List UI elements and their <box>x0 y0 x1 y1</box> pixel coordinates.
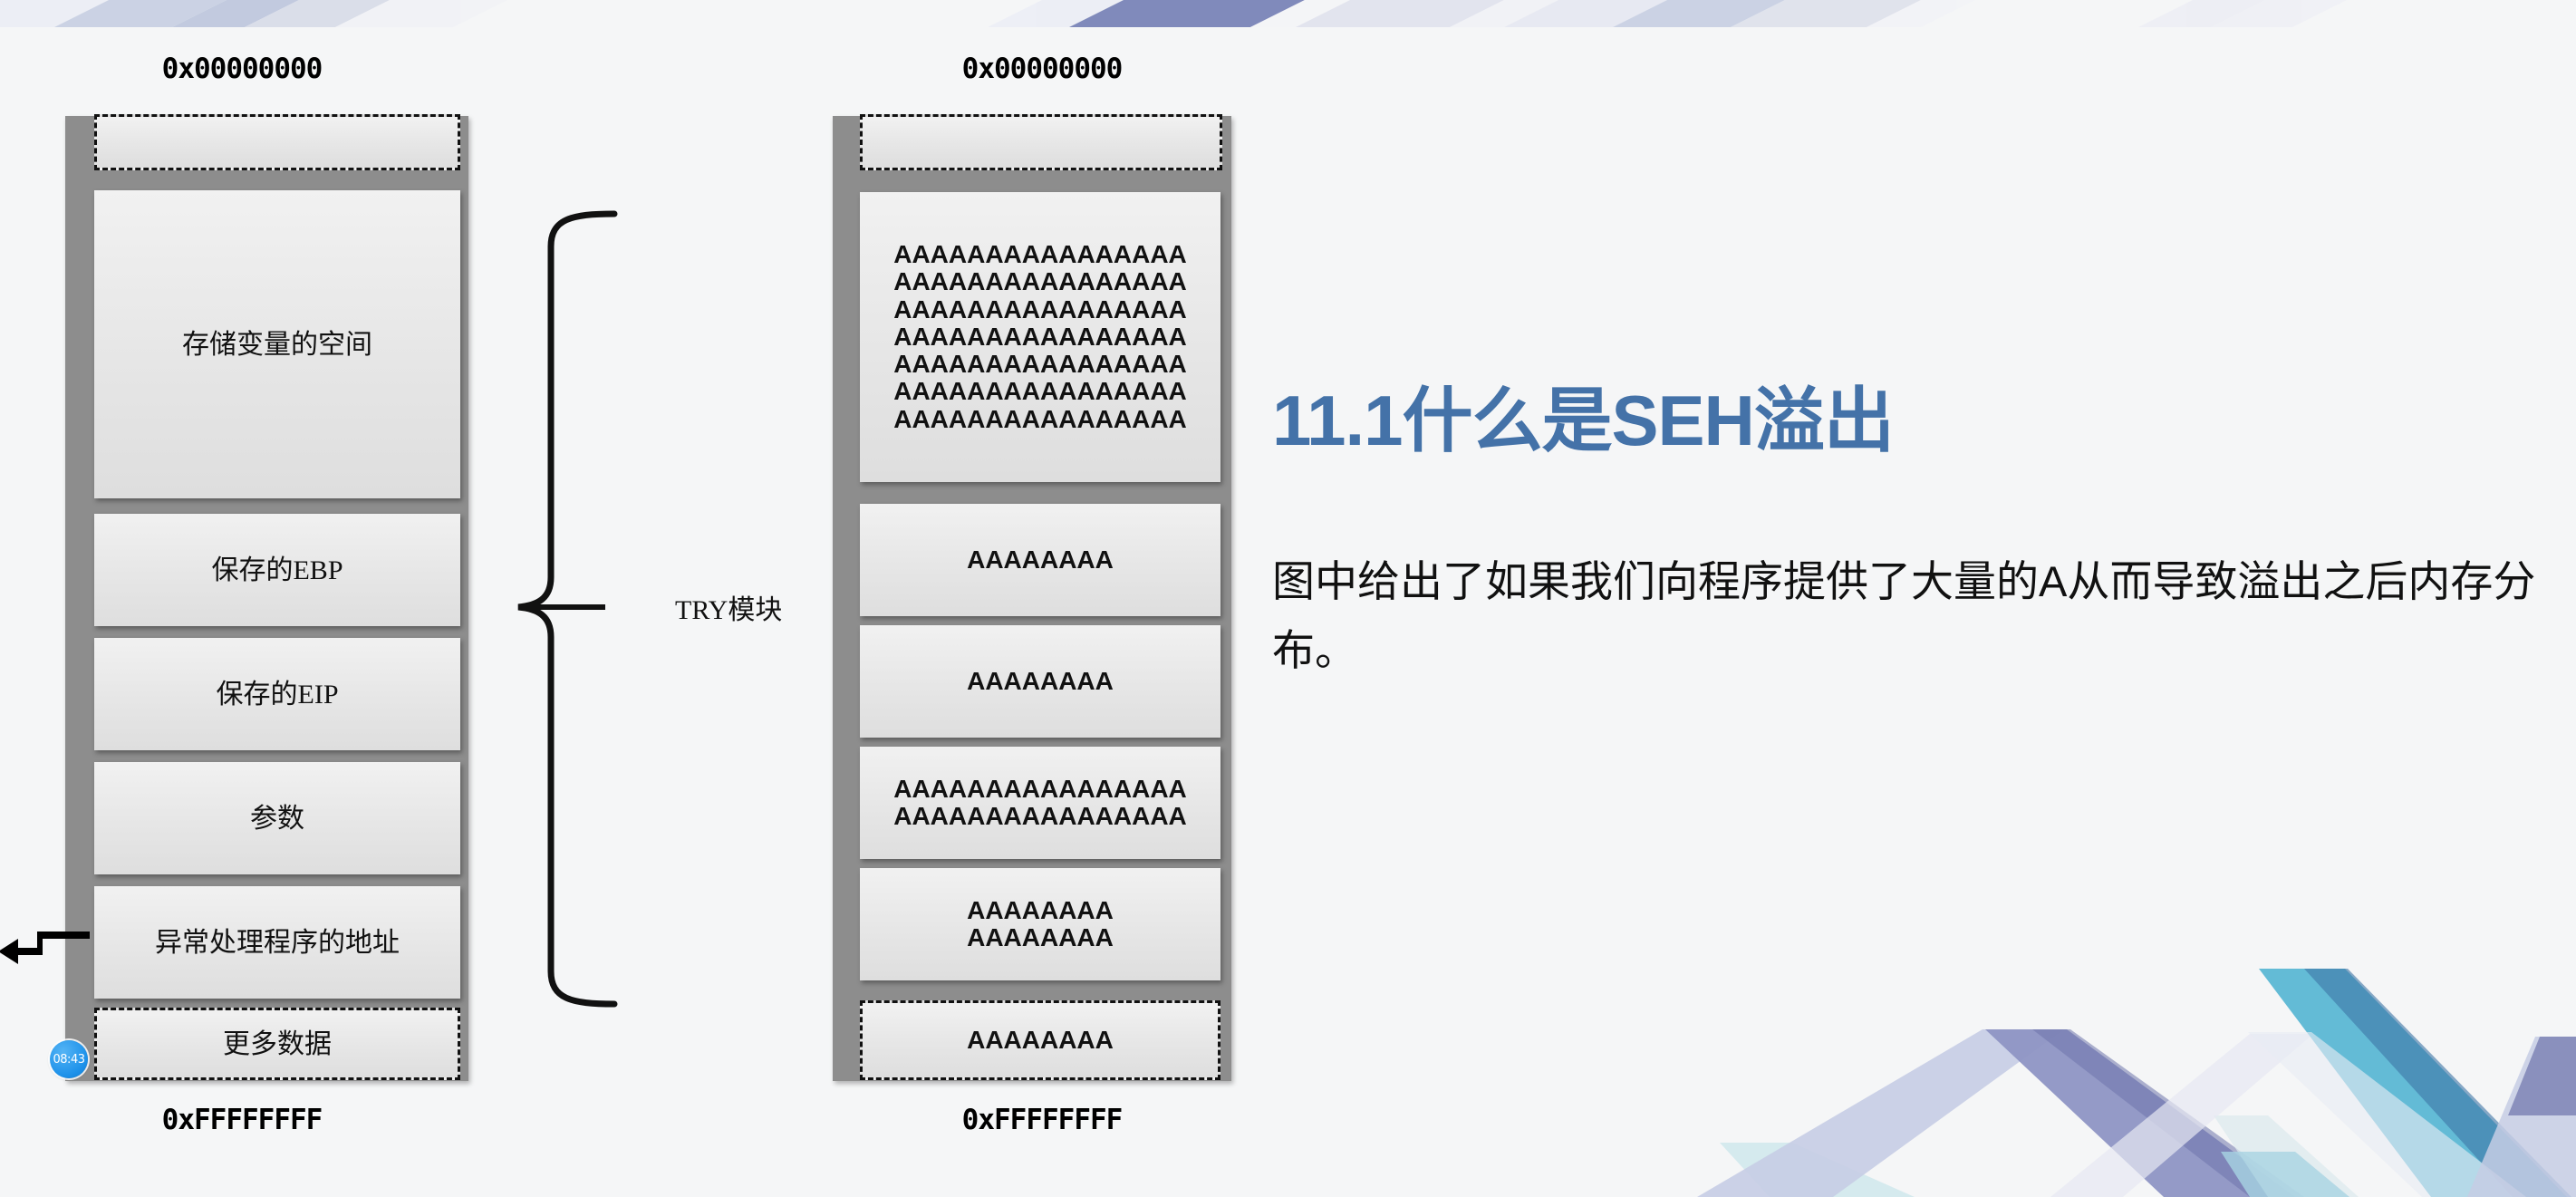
timer-badge[interactable]: 08:43 <box>50 1040 88 1078</box>
a-fill-line: AAAAAAAA <box>967 1027 1114 1054</box>
left-stack-cell-variables: 存储变量的空间 <box>94 190 460 498</box>
left-stack-top-address: 0x00000000 <box>38 53 446 85</box>
a-fill-line: AAAAAAAA <box>967 668 1114 695</box>
right-stack-cell-variables-overflow: AAAAAAAAAAAAAAAA AAAAAAAAAAAAAAAA AAAAAA… <box>860 192 1220 482</box>
left-stack-cell-saved-eip: 保存的EIP <box>94 638 460 750</box>
right-stack-cell-seh-handler-overflow: AAAAAAAA AAAAAAAA <box>860 868 1220 980</box>
right-stack-cell-arguments-overflow: AAAAAAAAAAAAAAAA AAAAAAAAAAAAAAAA <box>860 747 1220 859</box>
try-module-brace <box>462 210 671 1008</box>
left-stack-cell-more-data: 更多数据 <box>94 1008 460 1080</box>
a-fill-line: AAAAAAAA <box>967 546 1114 574</box>
right-stack-cell-saved-ebp-overflow: AAAAAAAA <box>860 504 1220 616</box>
a-fill-line: AAAAAAAAAAAAAAAA <box>893 776 1187 803</box>
a-fill-line: AAAAAAAA <box>967 924 1114 951</box>
a-fill-line: AAAAAAAAAAAAAAAA <box>893 323 1187 351</box>
a-fill-line: AAAAAAAA <box>967 897 1114 924</box>
left-stack-cell-label: 异常处理程序的地址 <box>155 928 400 958</box>
right-stack-cell-more-data-overflow: AAAAAAAA <box>860 1000 1220 1080</box>
a-fill-line: AAAAAAAAAAAAAAAA <box>893 378 1187 405</box>
right-stack-top-address: 0x00000000 <box>838 53 1246 85</box>
left-stack-bottom-address: 0xFFFFFFFF <box>38 1104 446 1136</box>
left-stack-cell-label: 保存的EIP <box>217 680 339 710</box>
try-module-label: TRY模块 <box>675 587 782 627</box>
left-stack-cell-arguments: 参数 <box>94 762 460 874</box>
right-stack-cell-saved-eip-overflow: AAAAAAAA <box>860 625 1220 738</box>
left-stack-cell-label: 保存的EBP <box>211 555 343 585</box>
left-stack-cell-seh-handler-address: 异常处理程序的地址 <box>94 886 460 999</box>
left-stack-cell-saved-ebp: 保存的EBP <box>94 514 460 626</box>
left-stack-cell-label: 参数 <box>250 804 304 834</box>
top-decoration-band <box>0 0 2576 27</box>
right-stack-bottom-address: 0xFFFFFFFF <box>838 1104 1246 1136</box>
a-fill-line: AAAAAAAAAAAAAAAA <box>893 803 1187 830</box>
a-fill-line: AAAAAAAAAAAAAAAA <box>893 296 1187 323</box>
bottom-right-decoration <box>1670 934 2576 1197</box>
left-stack-cell-top-gap <box>94 114 460 170</box>
right-stack-cell-top-gap <box>860 114 1222 170</box>
body-paragraph: 图中给出了如果我们向程序提供了大量的A从而导致溢出之后内存分布。 <box>1272 547 2559 685</box>
seh-handler-arrow <box>0 915 94 970</box>
page-title: 11.1什么是SEH溢出 <box>1272 364 1894 466</box>
a-fill-line: AAAAAAAAAAAAAAAA <box>893 406 1187 433</box>
left-stack-cell-label: 存储变量的空间 <box>182 330 372 360</box>
a-fill-line: AAAAAAAAAAAAAAAA <box>893 241 1187 268</box>
a-fill-line: AAAAAAAAAAAAAAAA <box>893 268 1187 295</box>
a-fill-line: AAAAAAAAAAAAAAAA <box>893 351 1187 378</box>
left-stack-cell-label: 更多数据 <box>223 1029 332 1059</box>
